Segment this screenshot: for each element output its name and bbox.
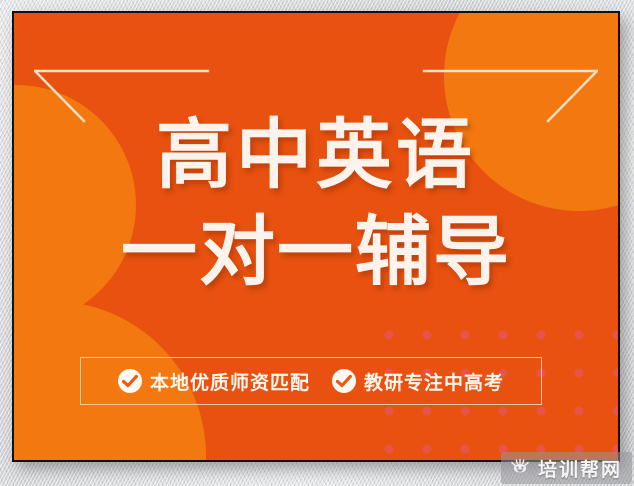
watermark-text: 培训帮网 [538,455,622,482]
feature-badge-label: 本地优质师资匹配 [150,368,310,395]
headline-line-2: 一对一辅导 [14,214,618,290]
feature-badge-bar: 本地优质师资匹配 教研专注中高考 [80,357,542,405]
feature-badge-label: 教研专注中高考 [364,368,504,395]
poster-headline: 高中英语 一对一辅导 [14,117,618,290]
poster-inner: 高中英语 一对一辅导 本地优质师资匹配 [14,13,618,460]
canvas: 高中英语 一对一辅导 本地优质师资匹配 [0,0,634,486]
feature-badge: 教研专注中高考 [332,368,504,395]
headline-line-1: 高中英语 [14,117,618,193]
feature-badge: 本地优质师资匹配 [118,368,310,395]
promo-poster: 高中英语 一对一辅导 本地优质师资匹配 [12,11,620,462]
sunburst-face-icon [509,457,531,479]
check-circle-icon [332,369,356,393]
watermark: 培训帮网 [501,452,632,484]
check-circle-icon [118,369,142,393]
